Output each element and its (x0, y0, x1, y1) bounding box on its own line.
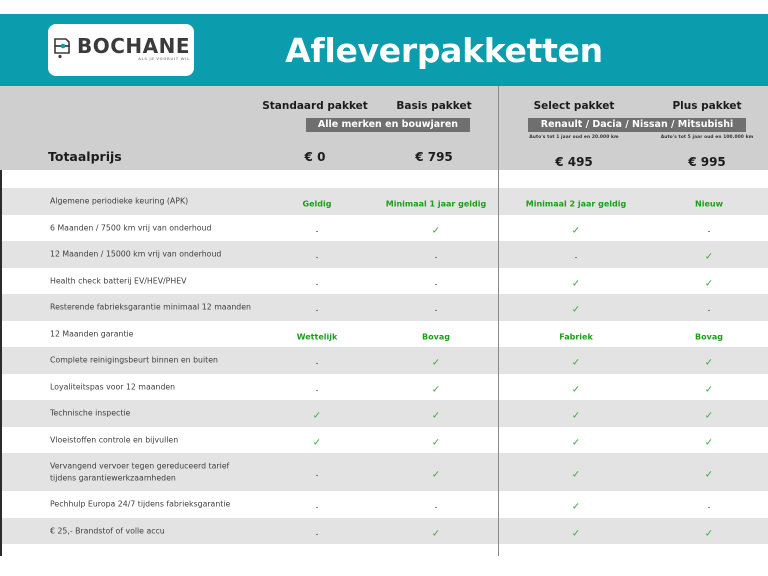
column-group-divider (498, 86, 499, 556)
dash-icon: - (316, 226, 319, 235)
row-cell: ✓ (502, 351, 650, 370)
cell-text: Geldig (303, 200, 332, 209)
row-label: 6 Maanden / 7500 km vrij van onderhoud (50, 222, 211, 234)
row-cell: - (264, 351, 370, 370)
dash-icon: - (708, 226, 711, 235)
check-icon: ✓ (432, 411, 440, 422)
table-row: 12 Maanden garantieWettelijkBovagFabriek… (2, 321, 768, 348)
total-price-plus: € 995 (648, 155, 766, 169)
dash-icon: - (316, 306, 319, 315)
row-cell: ✓ (502, 495, 650, 514)
row-cell: ✓ (264, 404, 370, 423)
table-row: Vervangend vervoer tegen gereduceerd tar… (2, 453, 768, 491)
row-label: Pechhulp Europa 24/7 tijdens fabrieksgar… (50, 499, 230, 511)
cell-text: Wettelijk (297, 332, 338, 341)
check-icon: ✓ (705, 437, 713, 448)
row-cell: ✓ (650, 271, 768, 290)
row-label: 12 Maanden / 15000 km vrij van onderhoud (50, 249, 221, 261)
row-cell: Geldig (264, 192, 370, 211)
dash-icon: - (708, 503, 711, 512)
total-price-basis: € 795 (370, 150, 498, 164)
row-cell: ✓ (502, 430, 650, 449)
check-icon: ✓ (572, 358, 580, 369)
row-cell: - (372, 271, 500, 290)
page-title: Afleverpakketten (0, 14, 768, 86)
row-cell: ✓ (372, 463, 500, 482)
row-cell: ✓ (502, 404, 650, 423)
row-label: 12 Maanden garantie (50, 328, 133, 340)
dash-icon: - (435, 306, 438, 315)
table-row: Pechhulp Europa 24/7 tijdens fabrieksgar… (2, 491, 768, 518)
row-cell: - (264, 245, 370, 264)
check-icon: ✓ (432, 358, 440, 369)
row-label: Vervangend vervoer tegen gereduceerd tar… (50, 461, 229, 484)
dash-icon: - (316, 279, 319, 288)
row-cell: ✓ (502, 271, 650, 290)
column-title-basis: Basis pakket (370, 100, 498, 112)
row-label: Technische inspectie (50, 408, 130, 420)
row-cell: - (264, 521, 370, 540)
dash-icon: - (316, 253, 319, 262)
cell-text: Minimaal 1 jaar geldig (386, 200, 487, 209)
check-icon: ✓ (705, 470, 713, 481)
dash-icon: - (435, 503, 438, 512)
check-icon: ✓ (572, 305, 580, 316)
row-cell: ✓ (650, 463, 768, 482)
row-cell: - (264, 377, 370, 396)
row-cell: Bovag (372, 324, 500, 343)
row-label: Health check batterij EV/HEV/PHEV (50, 275, 187, 287)
check-icon: ✓ (705, 278, 713, 289)
row-cell: Fabriek (502, 324, 650, 343)
row-cell: - (264, 495, 370, 514)
total-price-select: € 495 (500, 155, 648, 169)
row-cell: ✓ (650, 521, 768, 540)
check-icon: ✓ (705, 384, 713, 395)
table-row: Resterende fabrieksgarantie minimaal 12 … (2, 294, 768, 321)
row-cell: - (372, 245, 500, 264)
total-price-label: Totaalprijs (48, 149, 122, 164)
row-label: € 25,- Brandstof of volle accu (50, 525, 165, 537)
dash-icon: - (575, 253, 578, 262)
column-note-plus: Auto's tot 5 jaar oud en 100.000 km (648, 135, 766, 140)
features-table: Algemene periodieke keuring (APK)GeldigM… (0, 170, 768, 556)
dash-icon: - (316, 385, 319, 394)
check-icon: ✓ (705, 252, 713, 263)
dash-icon: - (316, 359, 319, 368)
row-cell: ✓ (650, 430, 768, 449)
afleverpakketten-page: BOCHANE ALS JE VOORUIT WIL Afleverpakket… (0, 0, 768, 576)
row-cell: ✓ (650, 351, 768, 370)
row-cell: Minimaal 2 jaar geldig (502, 192, 650, 211)
table-row: Vloeistoffen controle en bijvullen✓✓✓✓ (2, 427, 768, 454)
table-row: Algemene periodieke keuring (APK)GeldigM… (2, 188, 768, 215)
row-cell: ✓ (372, 218, 500, 237)
check-icon: ✓ (572, 437, 580, 448)
row-cell: ✓ (650, 377, 768, 396)
check-icon: ✓ (432, 470, 440, 481)
cell-text: Minimaal 2 jaar geldig (526, 200, 627, 209)
table-top-spacer (2, 170, 768, 188)
row-cell: - (264, 271, 370, 290)
dash-icon: - (435, 279, 438, 288)
row-cell: ✓ (502, 521, 650, 540)
row-cell: Wettelijk (264, 324, 370, 343)
total-price-standaard: € 0 (262, 150, 368, 164)
table-rows: Algemene periodieke keuring (APK)GeldigM… (2, 188, 768, 544)
row-cell: Nieuw (650, 192, 768, 211)
table-row: 12 Maanden / 15000 km vrij van onderhoud… (2, 241, 768, 268)
table-row: Complete reinigingsbeurt binnen en buite… (2, 347, 768, 374)
dash-icon: - (708, 306, 711, 315)
cell-text: Bovag (422, 332, 450, 341)
column-title-select: Select pakket (500, 100, 648, 112)
row-cell: ✓ (650, 404, 768, 423)
row-cell: - (650, 218, 768, 237)
row-label: Algemene periodieke keuring (APK) (50, 196, 188, 208)
row-cell: ✓ (372, 351, 500, 370)
check-icon: ✓ (572, 411, 580, 422)
row-cell: - (650, 495, 768, 514)
row-cell: Bovag (650, 324, 768, 343)
table-row: Technische inspectie✓✓✓✓ (2, 400, 768, 427)
check-icon: ✓ (705, 411, 713, 422)
row-cell: - (264, 218, 370, 237)
row-cell: ✓ (502, 218, 650, 237)
column-title-plus: Plus pakket (648, 100, 766, 112)
row-cell: ✓ (372, 377, 500, 396)
check-icon: ✓ (432, 384, 440, 395)
header-banner: BOCHANE ALS JE VOORUIT WIL Afleverpakket… (0, 14, 768, 86)
dash-icon: - (316, 529, 319, 538)
row-cell: ✓ (264, 430, 370, 449)
row-cell: ✓ (372, 521, 500, 540)
row-label: Complete reinigingsbeurt binnen en buite… (50, 355, 218, 367)
table-row: 6 Maanden / 7500 km vrij van onderhoud-✓… (2, 215, 768, 242)
check-icon: ✓ (572, 384, 580, 395)
table-row: Health check batterij EV/HEV/PHEV--✓✓ (2, 268, 768, 295)
row-cell: - (372, 495, 500, 514)
column-note-select: Auto's tot 1 jaar oud en 20.000 km (500, 135, 648, 140)
check-icon: ✓ (313, 437, 321, 448)
row-cell: ✓ (502, 377, 650, 396)
check-icon: ✓ (432, 437, 440, 448)
table-row: Loyaliteitspas voor 12 maanden-✓✓✓ (2, 374, 768, 401)
cell-text: Fabriek (559, 332, 593, 341)
cell-text: Bovag (695, 332, 723, 341)
row-label: Vloeistoffen controle en bijvullen (50, 434, 178, 446)
check-icon: ✓ (705, 358, 713, 369)
brand-bar-renault-groep: Renault / Dacia / Nissan / Mitsubishi (528, 118, 746, 132)
row-cell: ✓ (502, 298, 650, 317)
row-cell: - (650, 298, 768, 317)
check-icon: ✓ (705, 528, 713, 539)
row-cell: ✓ (372, 404, 500, 423)
table-bottom-spacer (2, 544, 768, 576)
row-cell: - (264, 463, 370, 482)
check-icon: ✓ (572, 502, 580, 513)
dash-icon: - (435, 253, 438, 262)
row-cell: ✓ (372, 430, 500, 449)
check-icon: ✓ (572, 278, 580, 289)
row-cell: ✓ (502, 463, 650, 482)
row-cell: Minimaal 1 jaar geldig (372, 192, 500, 211)
check-icon: ✓ (572, 528, 580, 539)
row-cell: - (264, 298, 370, 317)
table-row: € 25,- Brandstof of volle accu-✓✓✓ (2, 518, 768, 545)
cell-text: Nieuw (695, 200, 723, 209)
brand-bar-alle-merken: Alle merken en bouwjaren (306, 118, 470, 132)
row-cell: - (502, 245, 650, 264)
check-icon: ✓ (432, 225, 440, 236)
dash-icon: - (316, 471, 319, 480)
column-title-standaard: Standaard pakket (262, 100, 368, 112)
check-icon: ✓ (432, 528, 440, 539)
row-cell: - (372, 298, 500, 317)
check-icon: ✓ (313, 411, 321, 422)
row-cell: ✓ (650, 245, 768, 264)
dash-icon: - (316, 503, 319, 512)
check-icon: ✓ (572, 225, 580, 236)
row-label: Resterende fabrieksgarantie minimaal 12 … (50, 302, 251, 314)
check-icon: ✓ (572, 470, 580, 481)
row-label: Loyaliteitspas voor 12 maanden (50, 381, 175, 393)
